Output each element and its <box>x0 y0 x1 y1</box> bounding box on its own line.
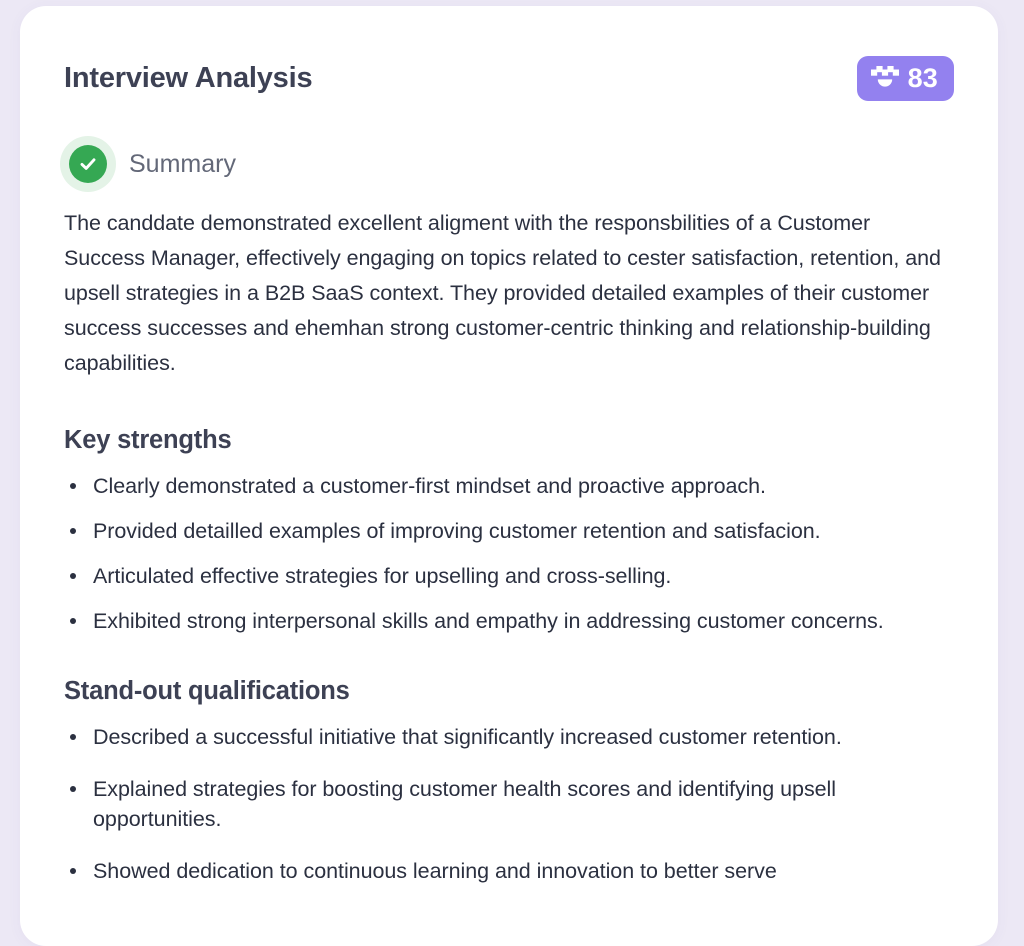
card-header: Interview Analysis 83 <box>64 58 954 114</box>
key-strengths-list: Clearly demonstrated a customer-first mi… <box>64 471 954 636</box>
page-title: Interview Analysis <box>64 61 312 95</box>
check-circle-icon <box>60 136 116 192</box>
standout-qualifications-list: Described a successful initiative that s… <box>64 722 954 886</box>
score-badge[interactable]: 83 <box>857 56 954 101</box>
list-item: Articulated effective strategies for ups… <box>64 561 954 591</box>
section-standout-qualifications: Stand-out qualifications Described a suc… <box>64 676 954 886</box>
section-title: Stand-out qualifications <box>64 676 954 706</box>
score-value: 83 <box>908 63 938 93</box>
list-item: Described a successful initiative that s… <box>64 722 954 752</box>
interview-analysis-card: Interview Analysis 83 <box>20 6 998 946</box>
summary-text: The canddate demonstrated excellent alig… <box>64 206 954 381</box>
section-title: Key strengths <box>64 425 954 455</box>
crown-smiley-icon <box>871 66 899 90</box>
list-item: Provided detailled examples of improving… <box>64 516 954 546</box>
list-item: Showed dedication to continuous learning… <box>64 856 954 886</box>
list-item: Exhibited strong interpersonal skills an… <box>64 606 954 636</box>
list-item: Explained strategies for boosting custom… <box>64 774 954 834</box>
summary-label: Summary <box>129 150 236 178</box>
list-item: Clearly demonstrated a customer-first mi… <box>64 471 954 501</box>
summary-header: Summary <box>64 136 954 192</box>
section-key-strengths: Key strengths Clearly demonstrated a cus… <box>64 425 954 636</box>
